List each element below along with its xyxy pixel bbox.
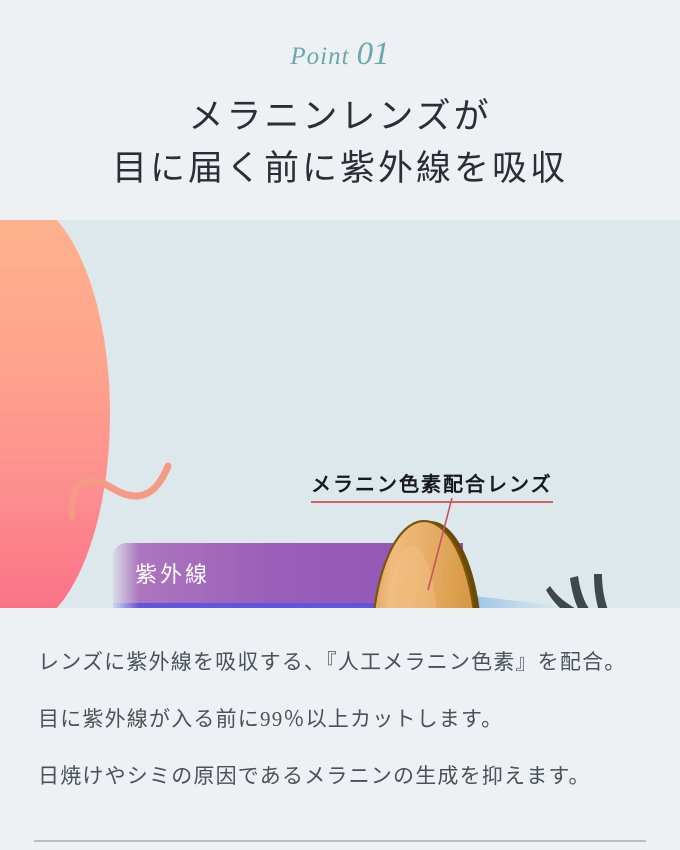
point-label: Point — [290, 43, 349, 70]
description-line-3: 日焼けやシミの原因であるメラニンの生成を抑えます。 — [38, 766, 648, 787]
lens-diagram: 光源 紫外線 ブルーライト 可視光線 — [0, 220, 680, 608]
description-line-1: レンズに紫外線を吸収する、『人工メラニン色素』を配合。 — [38, 652, 648, 673]
section-divider — [34, 840, 646, 842]
description-line-2: 目に紫外線が入る前に99％以上カットします。 — [38, 709, 648, 730]
lens-leader-line — [0, 250, 680, 608]
headline-line-1: メラニンレンズが — [0, 91, 680, 143]
point-eyebrow: Point01 — [0, 38, 680, 71]
point-number: 01 — [357, 36, 390, 72]
page-header: Point01 メラニンレンズが 目に届く前に紫外線を吸収 — [0, 0, 680, 195]
description-block: レンズに紫外線を吸収する、『人工メラニン色素』を配合。 目に紫外線が入る前に99… — [38, 652, 648, 823]
headline-line-2: 目に届く前に紫外線を吸収 — [0, 143, 680, 195]
page-title: メラニンレンズが 目に届く前に紫外線を吸収 — [0, 91, 680, 195]
